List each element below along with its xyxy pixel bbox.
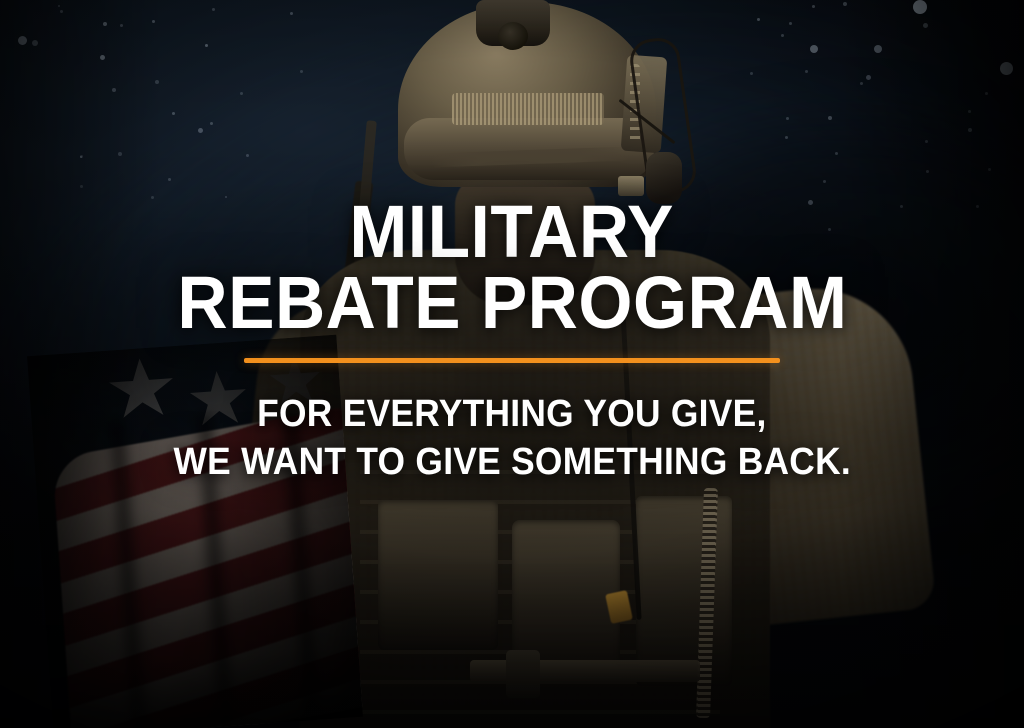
banner-text-content: MILITARY REBATE PROGRAM FOR EVERYTHING Y… <box>0 0 1024 728</box>
military-rebate-banner: MILITARY REBATE PROGRAM FOR EVERYTHING Y… <box>0 0 1024 728</box>
headline-line-1: MILITARY <box>350 196 674 267</box>
subheadline-line-1: FOR EVERYTHING YOU GIVE, <box>257 391 766 437</box>
orange-divider <box>244 358 780 363</box>
subheadline-line-2: WE WANT TO GIVE SOMETHING BACK. <box>173 439 851 485</box>
headline-line-2: REBATE PROGRAM <box>177 267 847 338</box>
